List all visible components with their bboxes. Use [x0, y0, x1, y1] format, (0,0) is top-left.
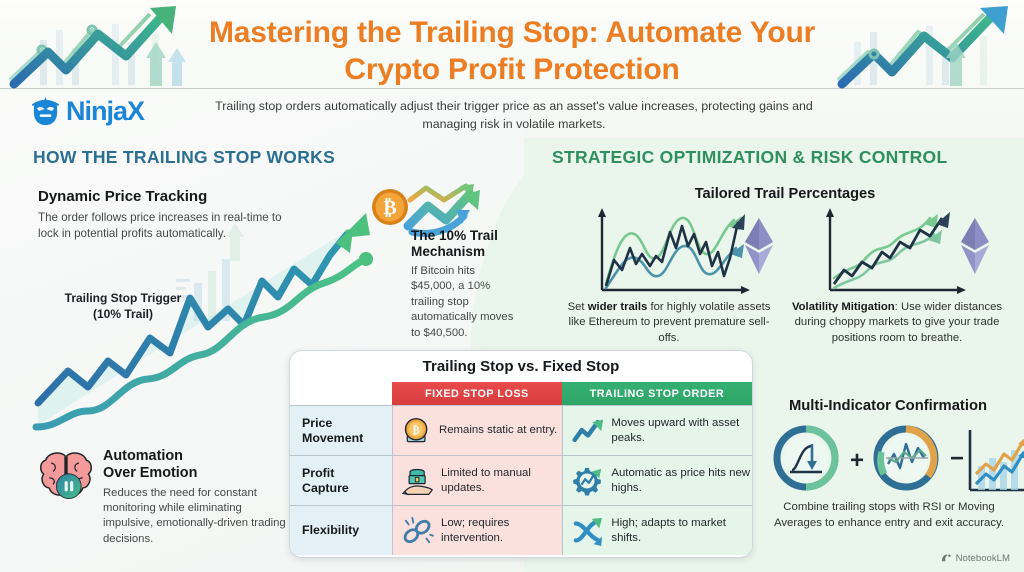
row2-fixed-cell: Limited to manual updates.: [392, 456, 562, 505]
bitcoin-coin-icon: ₿: [372, 189, 408, 225]
ten-percent-trail-block: The 10% Trail Mechanism If Bitcoin hits …: [411, 228, 515, 341]
row2-label-line2: Capture: [302, 481, 349, 495]
multi-indicator-icons: + −: [772, 424, 1010, 496]
row2-fixed-text: Limited to manual updates.: [441, 466, 562, 496]
page-title: Mastering the Trailing Stop: Automate Yo…: [160, 14, 864, 88]
row1-fixed-cell: ₿ Remains static at entry.: [392, 406, 562, 455]
multi-indicator-heading: Multi-Indicator Confirmation: [762, 398, 1014, 414]
section-heading-left: HOW THE TRAILING STOP WORKS: [33, 147, 335, 168]
row3-fixed-text: Low; requires intervention.: [441, 516, 562, 546]
comparison-header-trailing: TRAILING STOP ORDER: [562, 382, 752, 405]
operator-plus: +: [850, 447, 864, 474]
ethereum-icon: [958, 216, 992, 278]
pause-icon: [65, 481, 68, 491]
dynamic-price-tracking-block: Dynamic Price Tracking The order follows…: [38, 188, 290, 242]
caption-a-bold: wider trails: [588, 301, 648, 313]
svg-text:₿: ₿: [383, 197, 396, 219]
gear-chart-icon: [572, 466, 604, 496]
row1-trailing-text: Moves upward with asset peaks.: [611, 416, 752, 446]
automation-body: Reduces the need for constant monitoring…: [103, 486, 290, 547]
row2-trailing-cell: Automatic as price hits new highs.: [562, 456, 752, 505]
section-heading-right: STRATEGIC OPTIMIZATION & RISK CONTROL: [552, 147, 947, 168]
ten-percent-title-line1: The 10% Trail: [411, 228, 498, 243]
flexible-arrows-icon: [572, 516, 604, 546]
operator-minus: −: [950, 445, 964, 472]
row-label-flexibility: Flexibility: [290, 506, 392, 555]
row3-trailing-cell: High; adapts to market shifts.: [562, 506, 752, 555]
comparison-header-fixed: FIXED STOP LOSS: [392, 382, 562, 405]
row2-label-line1: Profit: [302, 466, 349, 480]
automation-title-line1: Automation: [103, 448, 183, 464]
tailored-trail-heading: Tailored Trail Percentages: [560, 186, 1010, 202]
automation-over-emotion-block: Automation Over Emotion Reduces the need…: [38, 448, 290, 547]
rsi-gauge-icon: [777, 429, 835, 487]
trigger-label-line2: (10% Trail): [38, 306, 208, 322]
comparison-header-blank: [290, 382, 392, 405]
brand-logo[interactable]: NinjaX: [30, 96, 144, 127]
row1-label-line2: Movement: [302, 431, 363, 445]
row3-trailing-text: High; adapts to market shifts.: [611, 516, 752, 546]
automation-title-line2: Over Emotion: [103, 465, 197, 481]
trailing-stop-trigger-label: Trailing Stop Trigger (10% Trail): [38, 290, 208, 322]
comparison-title: Trailing Stop vs. Fixed Stop: [290, 351, 752, 382]
ten-percent-title: The 10% Trail Mechanism: [411, 228, 515, 260]
dynamic-title: Dynamic Price Tracking: [38, 188, 290, 205]
dynamic-body: The order follows price increases in rea…: [38, 210, 290, 242]
svg-text:₿: ₿: [413, 424, 420, 436]
treasure-chest-hand-icon: [402, 466, 434, 496]
row1-label-line1: Price: [302, 416, 363, 430]
multi-indicator-body: Combine trailing stops with RSI or Movin…: [768, 500, 1010, 531]
row3-fixed-cell: Low; requires intervention.: [392, 506, 562, 555]
bitcoin-coin-icon: ₿: [402, 416, 432, 446]
caption-wider-trails: Set wider trails for highly volatile ass…: [566, 300, 772, 346]
row1-trailing-cell: Moves upward with asset peaks.: [562, 406, 752, 455]
comparison-table: Trailing Stop vs. Fixed Stop FIXED STOP …: [289, 350, 753, 558]
row-label-price-movement: Price Movement: [290, 406, 392, 455]
brand-logo-text: NinjaX: [66, 96, 144, 127]
ten-percent-body: If Bitcoin hits $45,000, a 10% trailing …: [411, 264, 515, 341]
ninja-mask-icon: [30, 96, 61, 127]
comparison-header-row: FIXED STOP LOSS TRAILING STOP ORDER: [290, 382, 752, 405]
moving-average-gauge-icon: [877, 429, 935, 487]
automation-title: Automation Over Emotion: [103, 448, 290, 482]
watermark: NotebookLM: [941, 553, 1010, 564]
up-arrow-chart-icon: [572, 417, 604, 445]
caption-a-pre: Set: [568, 301, 588, 313]
caption-b-bold: Volatility Mitigation: [792, 301, 895, 313]
watermark-label: NotebookLM: [956, 553, 1010, 564]
table-row: Flexibility Low; requires intervention.: [290, 505, 752, 555]
row2-trailing-text: Automatic as price hits new highs.: [611, 466, 752, 496]
brain-icon: [38, 450, 94, 502]
notebooklm-icon: [941, 553, 952, 564]
page-subtitle: Trailing stop orders automatically adjus…: [196, 98, 832, 133]
row3-label-line1: Flexibility: [302, 523, 359, 537]
caption-volatility-mitigation: Volatility Mitigation: Use wider distanc…: [790, 300, 1004, 346]
row1-fixed-text: Remains static at entry.: [439, 423, 557, 438]
broken-chain-icon: [402, 516, 434, 546]
table-row: Price Movement ₿ Remains static at entry…: [290, 405, 752, 455]
row-label-profit-capture: Profit Capture: [290, 456, 392, 505]
trend-arrows-icon: [404, 186, 520, 234]
ethereum-icon: [742, 216, 776, 278]
infographic-canvas: Mastering the Trailing Stop: Automate Yo…: [0, 0, 1024, 572]
ten-percent-title-line2: Mechanism: [411, 244, 485, 259]
table-row: Profit Capture Limited to manual updates…: [290, 455, 752, 505]
trigger-label-line1: Trailing Stop Trigger: [38, 290, 208, 306]
